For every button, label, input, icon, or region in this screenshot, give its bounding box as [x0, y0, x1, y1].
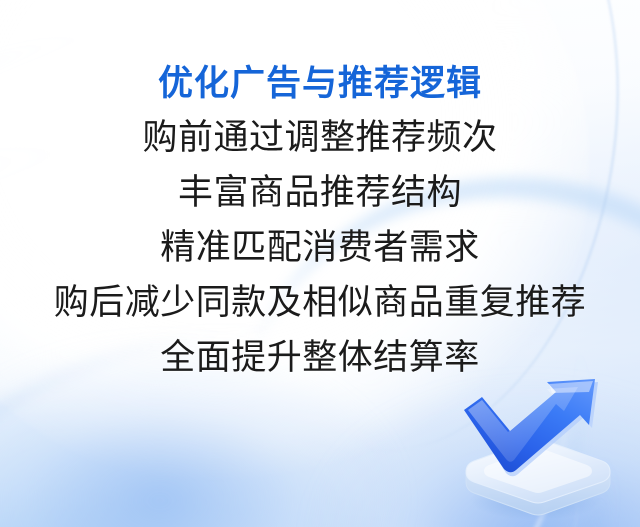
body-line-3: 精准匹配消费者需求: [0, 220, 640, 275]
body-line-1: 购前通过调整推荐频次: [0, 110, 640, 165]
poster-canvas: 优化广告与推荐逻辑 购前通过调整推荐频次 丰富商品推荐结构 精准匹配消费者需求 …: [0, 0, 640, 527]
body-line-5: 全面提升整体结算率: [0, 330, 640, 385]
headline: 优化广告与推荐逻辑: [0, 58, 640, 110]
text-block: 优化广告与推荐逻辑 购前通过调整推荐频次 丰富商品推荐结构 精准匹配消费者需求 …: [0, 58, 640, 385]
body-line-4: 购后减少同款及相似商品重复推荐: [0, 275, 640, 330]
body-line-2: 丰富商品推荐结构: [0, 165, 640, 220]
growth-arrow-emblem: [452, 378, 620, 524]
